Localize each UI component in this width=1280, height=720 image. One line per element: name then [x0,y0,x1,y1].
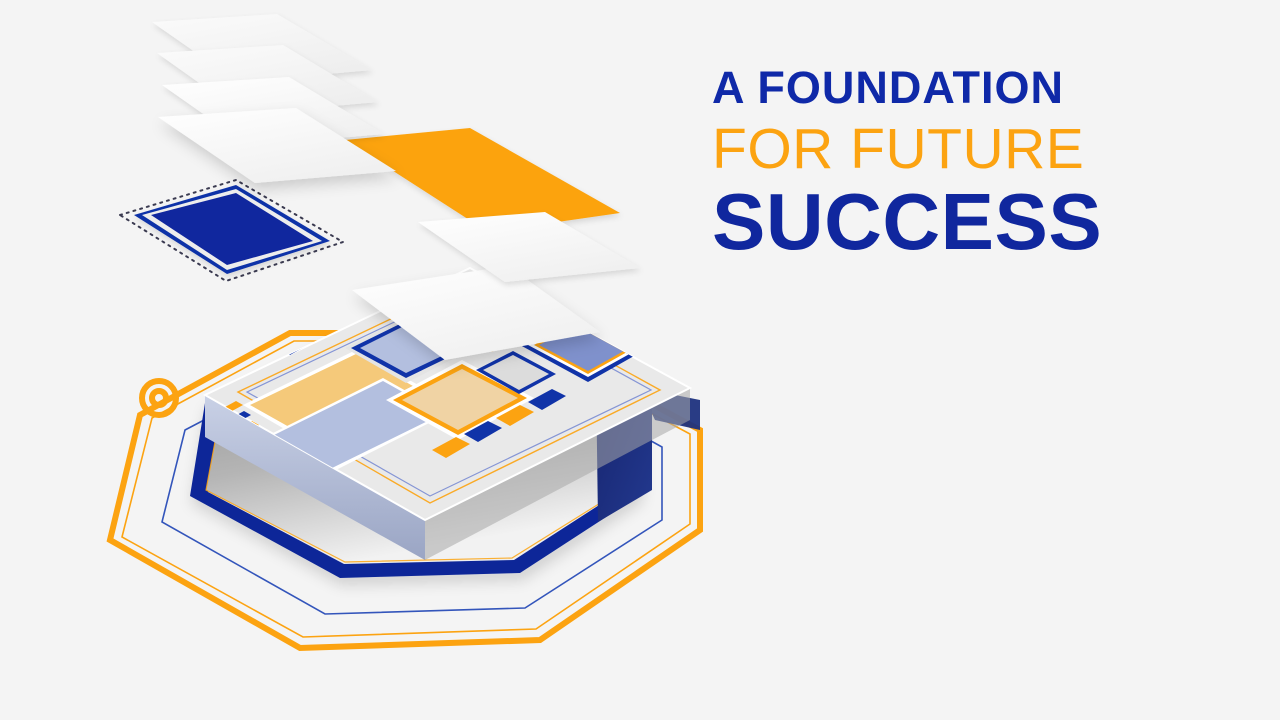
title-block: A FOUNDATION FOR FUTURE SUCCESS [712,62,1212,264]
title-line-three: SUCCESS [712,180,1212,264]
white-sheet-under-orange [418,212,640,282]
white-sheet-stack [152,14,396,183]
exploded-circuit-board-illustration [0,0,780,720]
slide-canvas: A FOUNDATION FOR FUTURE SUCCESS [0,0,1280,720]
blue-framed-plate [120,180,343,281]
title-line-one: A FOUNDATION [712,62,1212,114]
orange-plate [345,128,620,232]
title-line-two: FOR FUTURE [712,116,1212,182]
